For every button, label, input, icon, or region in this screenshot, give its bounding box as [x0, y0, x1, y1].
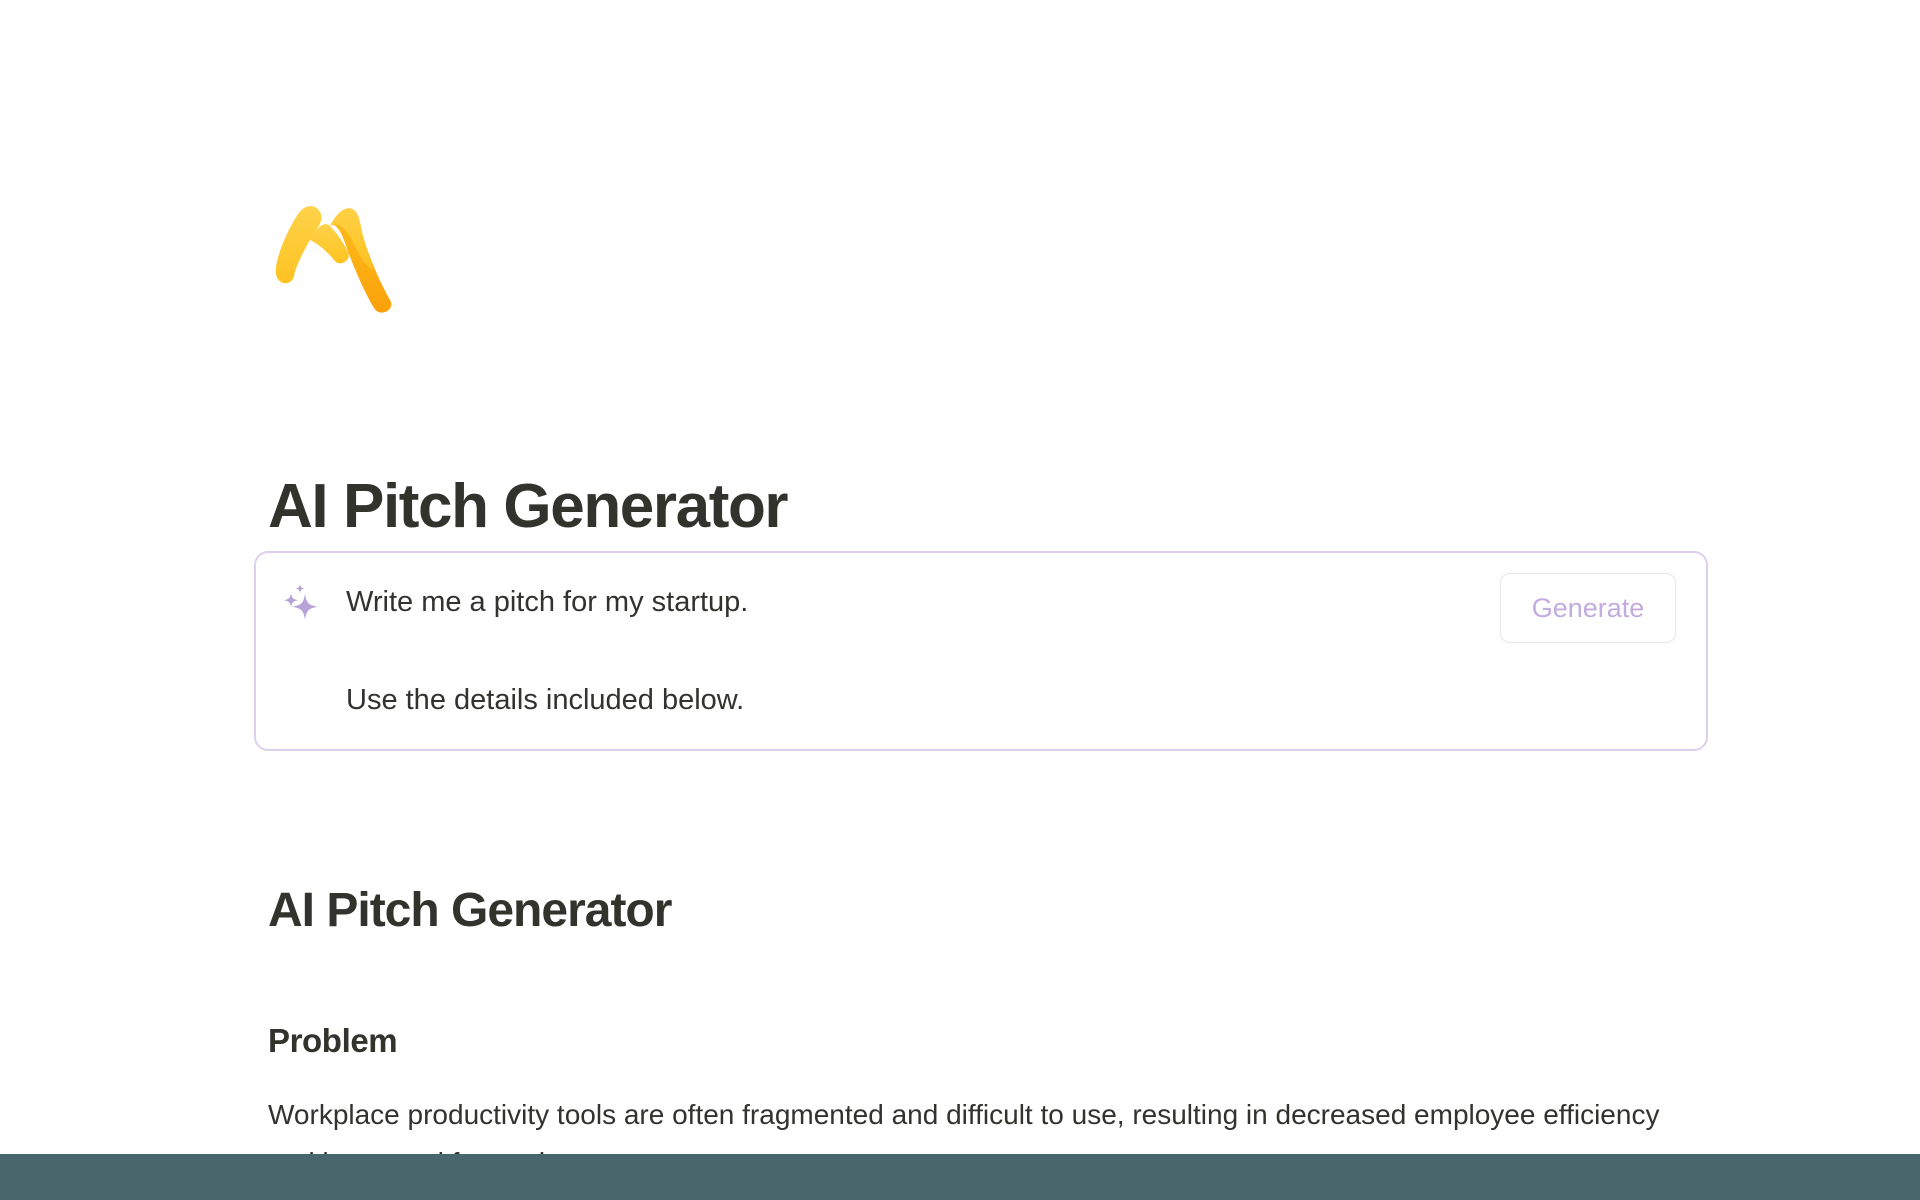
document-title: AI Pitch Generator — [268, 885, 671, 938]
section-heading-problem: Problem — [268, 1021, 397, 1061]
marketing-m-logo-icon — [268, 196, 418, 316]
bottom-status-bar — [0, 1154, 1920, 1200]
prompt-text-line-2[interactable]: Use the details included below. — [346, 681, 744, 719]
sparkle-icon — [280, 580, 324, 624]
page-title: AI Pitch Generator — [268, 474, 787, 539]
prompt-text-line-1[interactable]: Write me a pitch for my startup. — [346, 583, 748, 621]
generate-button[interactable]: Generate — [1500, 573, 1676, 643]
prompt-card[interactable]: Write me a pitch for my startup. Use the… — [254, 551, 1708, 751]
app-page: AI Pitch Generator Write me a pitch for … — [0, 0, 1920, 1200]
